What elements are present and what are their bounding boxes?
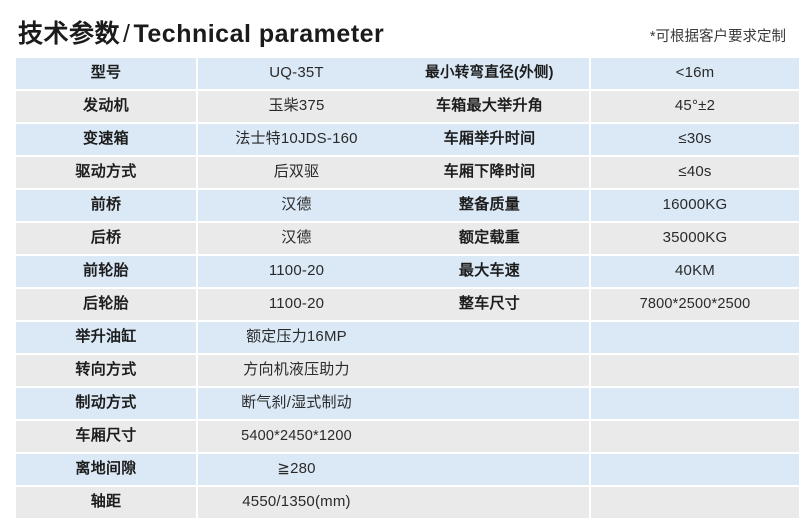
spec-table-left-body: 型号UQ-35T发动机玉柴375变速箱法士特10JDS-160驱动方式后双驱前桥…	[16, 58, 395, 520]
table-row: 后桥汉德	[16, 223, 395, 256]
table-row: 车箱最大举升角45°±2	[390, 91, 799, 124]
spec-key-cell	[390, 421, 591, 454]
spec-value-cell: 断气刹/湿式制动	[198, 388, 395, 421]
spec-value-cell	[591, 322, 799, 355]
spec-value-cell: ≤30s	[591, 124, 799, 157]
table-row: 转向方式方向机液压助力	[16, 355, 395, 388]
table-row: 发动机玉柴375	[16, 91, 395, 124]
spec-value-cell: 玉柴375	[198, 91, 395, 124]
spec-value-cell: 后双驱	[198, 157, 395, 190]
technical-parameter-page: 技术参数/Technical parameter *可根据客户要求定制 型号UQ…	[0, 0, 800, 517]
spec-key-cell: 后桥	[16, 223, 198, 256]
spec-key-cell: 举升油缸	[16, 322, 198, 355]
spec-value-cell: 汉德	[198, 190, 395, 223]
table-row: 离地间隙≧280	[16, 454, 395, 487]
table-row	[390, 454, 799, 487]
spec-key-cell: 轴距	[16, 487, 198, 520]
spec-key-cell: 车厢下降时间	[390, 157, 591, 190]
table-row: 车厢下降时间≤40s	[390, 157, 799, 190]
spec-key-cell: 整车尺寸	[390, 289, 591, 322]
spec-key-cell: 前桥	[16, 190, 198, 223]
spec-table-left: 型号UQ-35T发动机玉柴375变速箱法士特10JDS-160驱动方式后双驱前桥…	[16, 58, 395, 520]
table-row	[390, 355, 799, 388]
spec-value-cell	[591, 421, 799, 454]
spec-value-cell: <16m	[591, 58, 799, 91]
spec-value-cell	[591, 454, 799, 487]
spec-value-cell: 方向机液压助力	[198, 355, 395, 388]
spec-key-cell: 前轮胎	[16, 256, 198, 289]
spec-value-cell: 4550/1350(mm)	[198, 487, 395, 520]
spec-key-cell: 变速箱	[16, 124, 198, 157]
spec-value-cell: 额定压力16MP	[198, 322, 395, 355]
spec-tables-container: 型号UQ-35T发动机玉柴375变速箱法士特10JDS-160驱动方式后双驱前桥…	[0, 58, 800, 494]
table-row: 变速箱法士特10JDS-160	[16, 124, 395, 157]
spec-table-right-body: 最小转弯直径(外侧)<16m车箱最大举升角45°±2车厢举升时间≤30s车厢下降…	[390, 58, 799, 520]
spec-key-cell	[390, 322, 591, 355]
spec-key-cell: 额定载重	[390, 223, 591, 256]
spec-key-cell: 型号	[16, 58, 198, 91]
spec-value-cell: ≧280	[198, 454, 395, 487]
spec-value-cell: ≤40s	[591, 157, 799, 190]
spec-value-cell	[591, 355, 799, 388]
table-row: 最小转弯直径(外侧)<16m	[390, 58, 799, 91]
spec-key-cell	[390, 355, 591, 388]
page-title-separator: /	[120, 20, 133, 48]
spec-value-cell: 5400*2450*1200	[198, 421, 395, 454]
spec-key-cell: 驱动方式	[16, 157, 198, 190]
spec-value-cell: UQ-35T	[198, 58, 395, 91]
spec-value-cell: 7800*2500*2500	[591, 289, 799, 322]
spec-key-cell	[390, 388, 591, 421]
spec-key-cell: 转向方式	[16, 355, 198, 388]
spec-value-cell: 16000KG	[591, 190, 799, 223]
table-row: 车厢举升时间≤30s	[390, 124, 799, 157]
table-row	[390, 421, 799, 454]
spec-value-cell: 汉德	[198, 223, 395, 256]
spec-key-cell	[390, 454, 591, 487]
page-header: 技术参数/Technical parameter *可根据客户要求定制	[0, 0, 800, 58]
spec-value-cell: 1100-20	[198, 289, 395, 322]
spec-key-cell: 整备质量	[390, 190, 591, 223]
table-row: 驱动方式后双驱	[16, 157, 395, 190]
table-row: 最大车速40KM	[390, 256, 799, 289]
spec-value-cell: 35000KG	[591, 223, 799, 256]
table-row: 制动方式断气刹/湿式制动	[16, 388, 395, 421]
table-row: 整备质量16000KG	[390, 190, 799, 223]
table-row: 车厢尺寸5400*2450*1200	[16, 421, 395, 454]
table-row: 型号UQ-35T	[16, 58, 395, 91]
table-row: 整车尺寸7800*2500*2500	[390, 289, 799, 322]
spec-key-cell: 车箱最大举升角	[390, 91, 591, 124]
table-row: 前桥汉德	[16, 190, 395, 223]
spec-key-cell: 最大车速	[390, 256, 591, 289]
table-row: 额定载重35000KG	[390, 223, 799, 256]
customization-note: *可根据客户要求定制	[650, 25, 786, 46]
spec-key-cell: 车厢举升时间	[390, 124, 591, 157]
page-title-cn: 技术参数	[18, 20, 120, 48]
page-title-en: Technical parameter	[133, 20, 384, 48]
spec-key-cell	[390, 487, 591, 520]
spec-key-cell: 车厢尺寸	[16, 421, 198, 454]
spec-value-cell: 45°±2	[591, 91, 799, 124]
table-row	[390, 322, 799, 355]
spec-table-right: 最小转弯直径(外侧)<16m车箱最大举升角45°±2车厢举升时间≤30s车厢下降…	[390, 58, 799, 520]
spec-key-cell: 后轮胎	[16, 289, 198, 322]
spec-key-cell: 最小转弯直径(外侧)	[390, 58, 591, 91]
spec-key-cell: 离地间隙	[16, 454, 198, 487]
table-row: 前轮胎1100-20	[16, 256, 395, 289]
table-row	[390, 487, 799, 520]
spec-key-cell: 发动机	[16, 91, 198, 124]
table-row: 后轮胎1100-20	[16, 289, 395, 322]
spec-key-cell: 制动方式	[16, 388, 198, 421]
table-row: 轴距4550/1350(mm)	[16, 487, 395, 520]
spec-value-cell: 法士特10JDS-160	[198, 124, 395, 157]
spec-value-cell: 40KM	[591, 256, 799, 289]
spec-value-cell: 1100-20	[198, 256, 395, 289]
table-row: 举升油缸额定压力16MP	[16, 322, 395, 355]
spec-value-cell	[591, 388, 799, 421]
page-title: 技术参数/Technical parameter	[18, 14, 384, 50]
spec-value-cell	[591, 487, 799, 520]
table-row	[390, 388, 799, 421]
